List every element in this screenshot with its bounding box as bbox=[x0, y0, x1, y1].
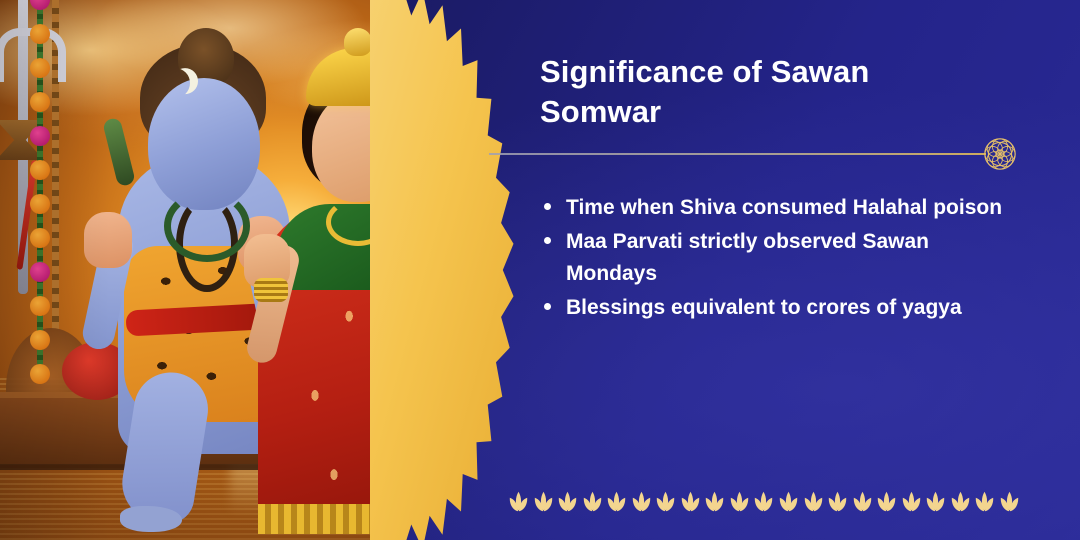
page-title: Significance of Sawan Somwar bbox=[540, 52, 970, 131]
lotus-sprout-icon bbox=[778, 490, 799, 516]
mandala-rosette-icon bbox=[976, 130, 1024, 178]
infographic-canvas: Significance of Sawan Somwar Time when S… bbox=[0, 0, 1080, 540]
gold-scalloped-arc bbox=[370, 0, 520, 540]
lotus-sprout-icon bbox=[582, 490, 603, 516]
lotus-sprout-icon bbox=[704, 490, 725, 516]
lotus-sprout-icon bbox=[557, 490, 578, 516]
lotus-sprout-icon bbox=[999, 490, 1020, 516]
lotus-sprout-icon bbox=[974, 490, 995, 516]
lotus-sprout-icon bbox=[803, 490, 824, 516]
lotus-sprout-icon bbox=[827, 490, 848, 516]
bullet-dot-icon bbox=[544, 237, 551, 244]
lotus-sprout-icon bbox=[680, 490, 701, 516]
list-item: Blessings equivalent to crores of yagya bbox=[538, 292, 1008, 324]
lotus-sprout-icon bbox=[753, 490, 774, 516]
lotus-sprout-icon bbox=[606, 490, 627, 516]
list-item-text: Maa Parvati strictly observed Sawan Mond… bbox=[566, 230, 929, 285]
list-item-text: Time when Shiva consumed Halahal poison bbox=[566, 196, 1002, 219]
page-title-line1: Significance of Sawan bbox=[540, 52, 970, 92]
bullet-dot-icon bbox=[544, 203, 551, 210]
lotus-sprout-icon bbox=[655, 490, 676, 516]
bullet-dot-icon bbox=[544, 303, 551, 310]
divider-line bbox=[489, 153, 986, 155]
divider bbox=[489, 146, 1034, 162]
footer-motif-row bbox=[508, 486, 1020, 520]
lotus-sprout-icon bbox=[508, 490, 529, 516]
lotus-sprout-icon bbox=[852, 490, 873, 516]
bullet-list: Time when Shiva consumed Halahal poison … bbox=[538, 192, 1008, 326]
lotus-sprout-icon bbox=[950, 490, 971, 516]
lotus-sprout-icon bbox=[876, 490, 897, 516]
page-title-line2: Somwar bbox=[540, 92, 970, 132]
list-item: Maa Parvati strictly observed Sawan Mond… bbox=[538, 226, 1008, 290]
list-item-text: Blessings equivalent to crores of yagya bbox=[566, 296, 962, 319]
lotus-sprout-icon bbox=[729, 490, 750, 516]
lotus-sprout-icon bbox=[631, 490, 652, 516]
lotus-sprout-icon bbox=[533, 490, 554, 516]
list-item: Time when Shiva consumed Halahal poison bbox=[538, 192, 1008, 224]
lotus-sprout-icon bbox=[901, 490, 922, 516]
lotus-sprout-icon bbox=[925, 490, 946, 516]
